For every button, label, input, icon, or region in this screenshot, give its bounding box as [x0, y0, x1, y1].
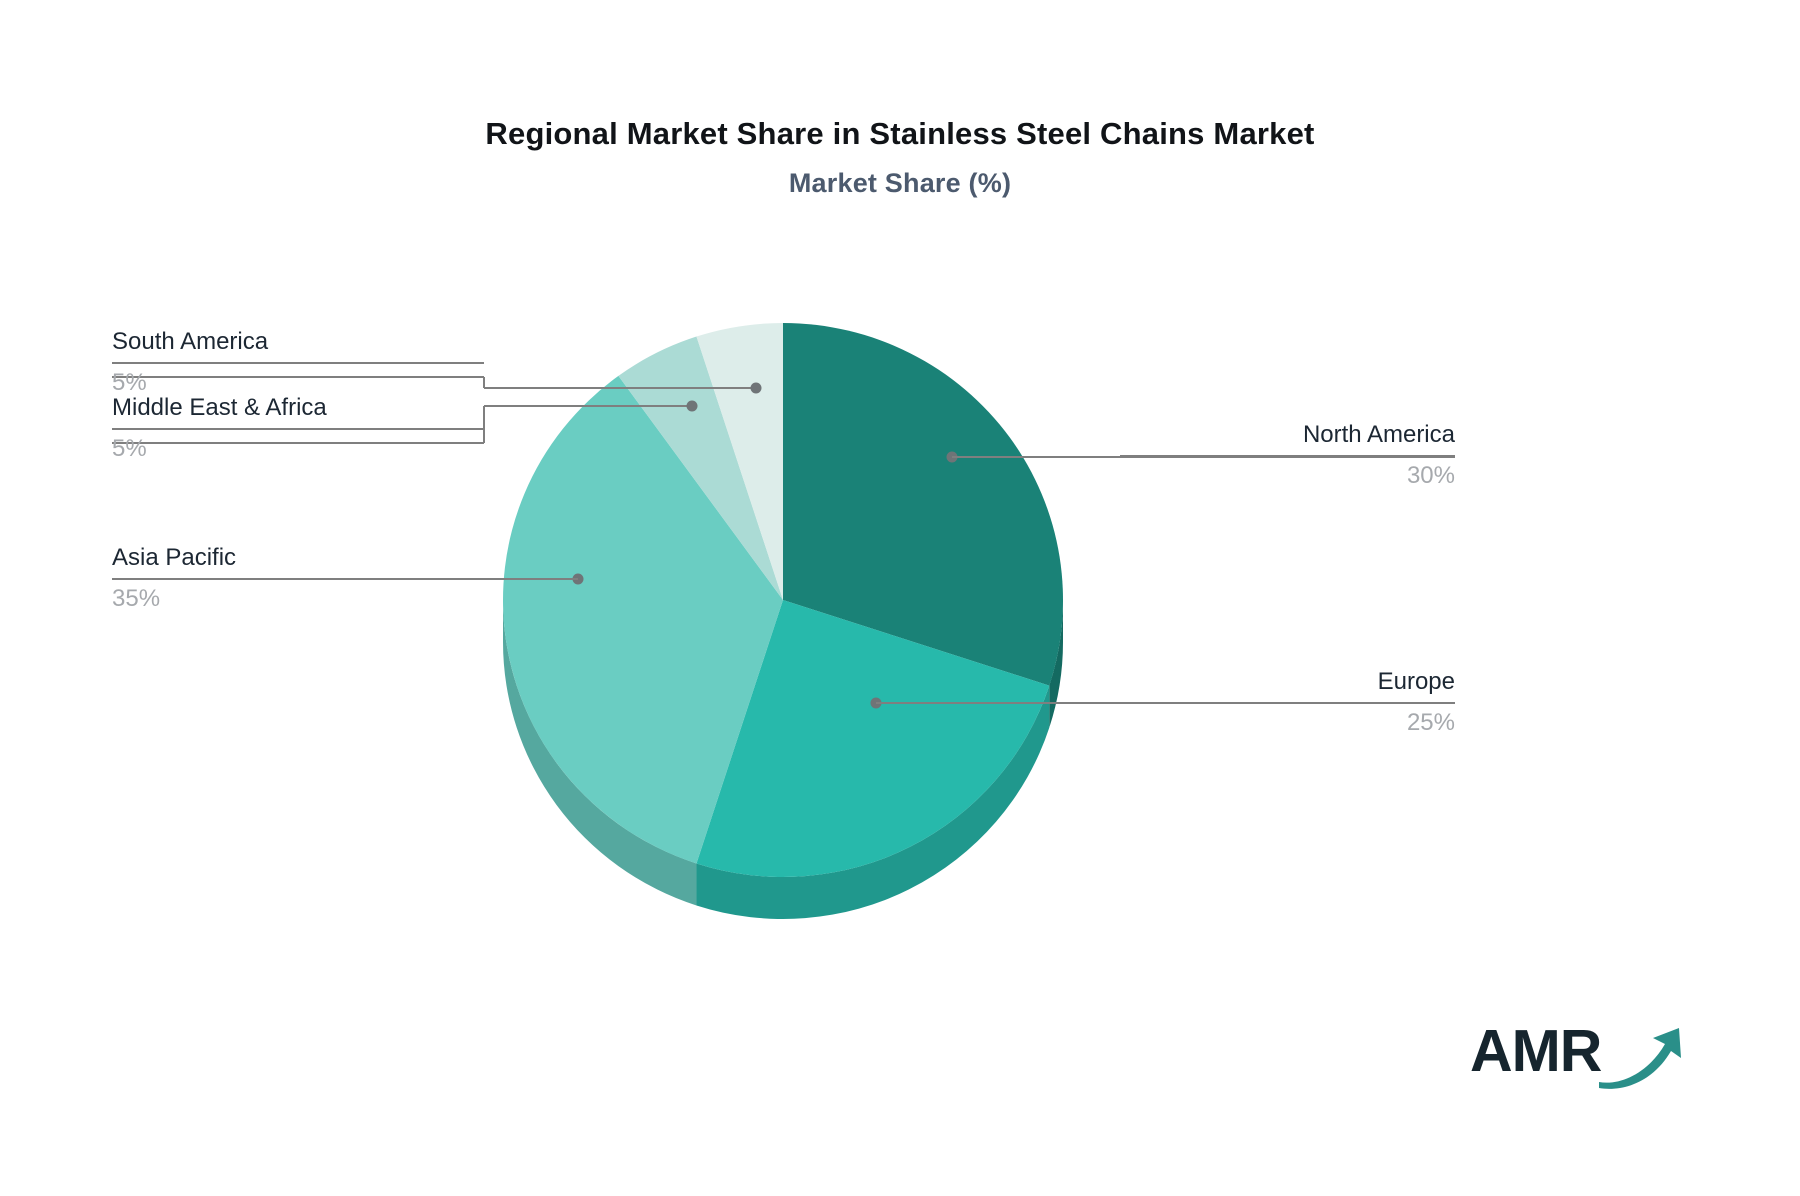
- callout-label: Europe: [1120, 669, 1455, 695]
- leader-line-anchor-dot: [687, 401, 698, 412]
- callout-north-america[interactable]: North America 30%: [1120, 422, 1455, 490]
- callout-label: North America: [1120, 422, 1455, 448]
- amr-wordmark: AMR: [1470, 1022, 1601, 1081]
- callout-label: South America: [112, 329, 484, 355]
- callout-asia-pacific[interactable]: Asia Pacific 35%: [112, 545, 484, 613]
- callout-value: 5%: [112, 370, 484, 396]
- callout-europe[interactable]: Europe 25%: [1120, 669, 1455, 737]
- callout-rule: [1120, 702, 1455, 704]
- leader-line-anchor-dot: [751, 383, 762, 394]
- chart-canvas: Regional Market Share in Stainless Steel…: [0, 0, 1800, 1196]
- callout-value: 25%: [1120, 710, 1455, 736]
- callout-rule: [112, 578, 484, 580]
- callout-rule: [112, 428, 484, 430]
- callout-label: Asia Pacific: [112, 545, 484, 571]
- growth-arrow-icon: [1595, 1018, 1685, 1090]
- callout-label: Middle East & Africa: [112, 395, 484, 421]
- amr-logo: AMR: [1470, 1012, 1685, 1090]
- callout-value: 35%: [112, 586, 484, 612]
- callout-south-america[interactable]: South America 5%: [112, 329, 484, 397]
- callout-middle-east-africa[interactable]: Middle East & Africa 5%: [112, 395, 484, 463]
- callout-rule: [1120, 455, 1455, 457]
- callout-rule: [112, 362, 484, 364]
- callout-value: 30%: [1120, 463, 1455, 489]
- callout-value: 5%: [112, 436, 484, 462]
